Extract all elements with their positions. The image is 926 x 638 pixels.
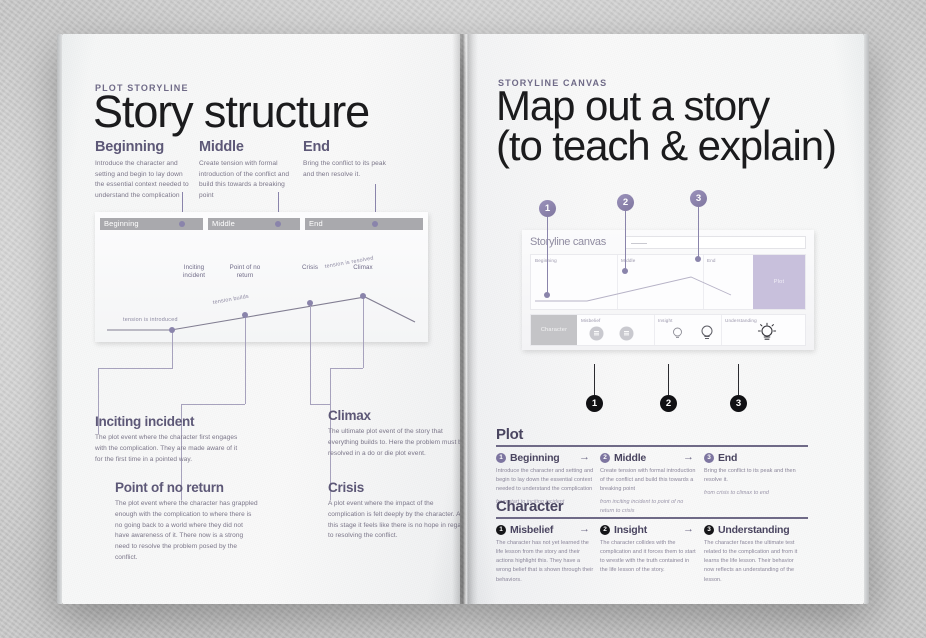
character-legend-rule [496,517,808,519]
character-title-understanding: Understanding [718,524,790,536]
callout-connector-4-h [330,368,363,369]
marker-bottom-3: 3 [730,395,747,412]
right-page-title: Map out a story (to teach & explain) [496,86,836,167]
callout-crisis: Crisis A plot event where the impact of … [328,480,460,542]
character-legend-head-insight: 2 Insight → [600,524,698,536]
plot-badge-1: 1 [496,453,506,463]
arc-stem-2 [245,315,246,342]
marker-top-1: 1 [539,200,556,217]
callout-body-crisis: A plot event where the impact of the com… [328,499,460,542]
plot-legend-head-middle: 2 Middle → [600,452,698,464]
plot-title-middle: Middle [614,452,646,464]
plot-body-beginning: Introduce the character and setting and … [496,467,594,495]
plot-legend-head-end: 3 End [704,452,802,464]
intro-heading-beginning: Beginning [95,139,191,155]
character-body-insight: The character collides with the complica… [600,539,698,576]
marker-bottom-stem-1 [594,364,595,395]
character-legend-item-understanding: 3 Understanding The character faces the … [704,524,802,585]
intro-body-middle: Create tension with formal introduction … [199,159,295,202]
callout-heading-point-of-no-return: Point of no return [115,480,258,495]
plot-title-end: End [718,452,737,464]
storyline-canvas-mock: Storyline canvas Beginning Middle End Pl… [522,230,814,350]
arc-dot-crisis [307,300,313,306]
character-legend-section: Character 1 Misbelief → The character ha… [496,498,808,585]
plot-body-end: Bring the conflict to its peak and then … [704,467,802,485]
plot-legend-head-beginning: 1 Beginning → [496,452,594,464]
intro-heading-end: End [303,139,399,155]
arc-stem-3 [310,303,311,342]
magazine-spread: PLOT STORYLINE Story structure Beginning… [62,34,864,604]
character-legend-heading: Character [496,498,808,517]
callout-heading-crisis: Crisis [328,480,460,495]
callout-connector-1-v [172,342,173,368]
callout-connector-3-v [310,342,311,404]
arc-dot-climax [360,293,366,299]
marker-bottom-1: 1 [586,395,603,412]
canvas-character-box[interactable]: Character [531,315,577,345]
character-body-understanding: The character faces the ultimate test re… [704,539,802,585]
marker-bottom-2: 2 [660,395,677,412]
bulb-medium-icon [699,324,715,342]
plot-badge-3: 3 [704,453,714,463]
bulb-small-icon [671,326,684,341]
canvas-plot-grid: Beginning Middle End Plot [530,254,806,310]
plot-badge-2: 2 [600,453,610,463]
arc-label-inciting-incident: Inciting incident [172,264,216,281]
callout-body-inciting-incident: The plot event where the character first… [95,433,238,465]
character-grid-label-insight: Insight [658,318,673,323]
intro-column-middle: Middle Create tension with formal introd… [199,139,295,202]
character-legend-head-misbelief: 1 Misbelief → [496,524,594,536]
character-legend-row: 1 Misbelief → The character has not yet … [496,524,808,585]
callout-connector-1-h [98,368,173,369]
canvas-title: Storyline canvas [530,236,606,248]
callout-heading-climax: Climax [328,408,460,423]
marker-bottom-stem-3 [738,364,739,395]
page-left: PLOT STORYLINE Story structure Beginning… [62,34,460,604]
right-title-line-2: (to teach & explain) [496,126,836,166]
bulb-off-icon-2 [619,326,634,341]
plot-body-middle: Create tension with formal introduction … [600,467,698,495]
character-arrow-1-icon: → [579,523,590,535]
callout-connector-3-h [310,404,330,405]
arc-label-point-of-no-return: Point of no return [223,264,267,281]
marker-bottom-stem-2 [668,364,669,395]
callout-climax: Climax The ultimate plot event of the st… [328,408,460,459]
tension-label-introduced: tension is introduced [123,317,178,323]
character-title-insight: Insight [614,524,647,536]
character-legend-item-insight: 2 Insight → The character collides with … [600,524,698,585]
marker-top-3: 3 [690,190,707,207]
right-title-line-1: Map out a story [496,86,836,126]
callout-inciting-incident: Inciting incident The plot event where t… [95,414,238,465]
bulb-bright-icon [757,322,777,344]
character-badge-3: 3 [704,525,714,535]
marker-top-dot-2 [622,268,628,274]
marker-top-dot-1 [544,292,550,298]
callout-body-climax: The ultimate plot event of the story tha… [328,427,460,459]
canvas-plot-box[interactable]: Plot [753,255,805,309]
callout-connector-2-h [181,404,245,405]
marker-top-stem-1b [547,255,548,293]
character-legend-head-understanding: 3 Understanding [704,524,802,536]
callout-body-point-of-no-return: The plot event where the character has g… [115,499,258,564]
plot-title-beginning: Beginning [510,452,560,464]
plot-arrow-2-icon: → [683,451,694,463]
marker-top-dot-3 [695,256,701,262]
intro-heading-middle: Middle [199,139,295,155]
intro-body-end: Bring the conflict to its peak and then … [303,159,399,180]
intro-column-beginning: Beginning Introduce the character and se… [95,139,191,202]
marker-top-stem-1 [547,217,548,255]
character-badge-2: 2 [600,525,610,535]
character-legend-item-misbelief: 1 Misbelief → The character has not yet … [496,524,594,585]
callout-connector-2-v [245,342,246,404]
canvas-search-field[interactable] [625,236,806,249]
page-right: STORYLINE CANVAS Map out a story (to tea… [466,34,864,604]
arc-label-climax: Climax [344,264,382,272]
character-arrow-2-icon: → [683,523,694,535]
arc-stem-4 [363,296,364,342]
bulb-off-icon-1 [589,326,604,341]
canvas-plot-box-label: Plot [753,279,805,285]
arc-dot-point-of-no-return [242,312,248,318]
callout-point-of-no-return: Point of no return The plot event where … [115,480,258,564]
story-arc-chart: Beginning Middle End tension is introduc… [95,212,428,342]
marker-top-2: 2 [617,194,634,211]
plot-arrow-1-icon: → [579,451,590,463]
left-page-title: Story structure [93,90,369,133]
intro-column-end: End Bring the conflict to its peak and t… [303,139,399,202]
character-grid-label-understanding: Understanding [725,318,757,323]
canvas-character-grid: Character Misbelief Insight Understandin… [530,314,806,346]
callout-heading-inciting-incident: Inciting incident [95,414,238,429]
canvas-character-box-label: Character [531,327,577,333]
arc-dot-inciting-incident [169,327,175,333]
plot-legend-heading: Plot [496,426,808,445]
character-body-misbelief: The character has not yet learned the li… [496,539,594,585]
character-title-misbelief: Misbelief [510,524,553,536]
character-grid-label-misbelief: Misbelief [581,318,600,323]
intro-body-beginning: Introduce the character and setting and … [95,159,191,202]
callout-connector-4-v [363,342,364,368]
plot-legend-rule [496,445,808,447]
plot-sub-end: from crisis to climax to end [704,489,802,498]
arc-label-crisis: Crisis [291,264,329,272]
character-badge-1: 1 [496,525,506,535]
character-grid-divider-1 [654,315,655,345]
marker-top-stem-2 [625,211,626,269]
marker-top-stem-3 [698,207,699,257]
character-grid-divider-2 [721,315,722,345]
